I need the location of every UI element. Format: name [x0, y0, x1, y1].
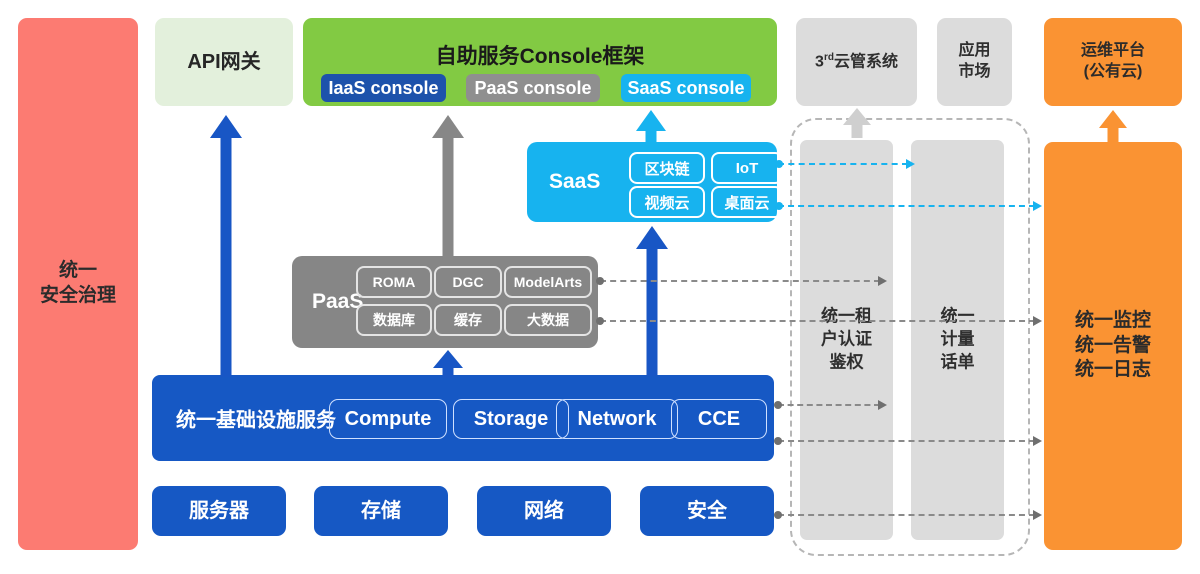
tag-roma-label: ROMA [373, 274, 416, 290]
tag-bigdata-label: 大数据 [527, 310, 569, 330]
box-security-label: 安全 [687, 498, 727, 524]
panel-unified-monitoring-label: 统一监控 统一告警 统一日志 [1075, 309, 1151, 383]
box-server[interactable]: 服务器 [152, 486, 286, 536]
dot-paas-auth [596, 277, 604, 285]
arrow-infra-to-api-gateway [210, 115, 242, 377]
box-3rd-cloud-mgmt-system[interactable]: 3rd云管系统 [796, 18, 917, 106]
arrow-shared-to-3rd-cloud [842, 108, 872, 138]
pill-paas-console[interactable]: PaaS console [466, 74, 600, 102]
tag-iot[interactable]: IoT [711, 152, 783, 184]
pill-saas-console-label: SaaS console [627, 78, 744, 99]
arrowhead-hardware-ops [1033, 510, 1042, 520]
pill-saas-console[interactable]: SaaS console [621, 74, 751, 102]
dot-infra-auth [774, 401, 782, 409]
box-api-gateway[interactable]: API网关 [155, 18, 293, 106]
tag-modelarts[interactable]: ModelArts [504, 266, 592, 298]
box-network-label: 网络 [524, 498, 564, 524]
layer-unified-infrastructure: 统一基础设施服务 Compute Storage Network CCE [152, 375, 774, 461]
tag-storage[interactable]: Storage [453, 399, 569, 439]
arrowhead-saas-auth [906, 159, 915, 169]
column-unified-tenant-auth-label: 统一租 户认证 鉴权 [800, 306, 893, 375]
arrowhead-saas-ops [1033, 201, 1042, 211]
dot-hardware-ops [774, 511, 782, 519]
tag-blockchain[interactable]: 区块链 [629, 152, 705, 184]
dashed-infra-to-auth-column [778, 404, 880, 406]
tag-dgc-label: DGC [452, 274, 483, 290]
pill-iaas-console-label: IaaS console [328, 78, 438, 99]
dashed-saas-to-ops-panel [778, 205, 1035, 207]
dashed-paas-to-ops-panel [600, 320, 1035, 322]
arrow-infra-to-saas [636, 226, 668, 376]
tag-iot-label: IoT [736, 160, 759, 177]
box-ops-platform-label: 运维平台 (公有云) [1081, 41, 1145, 83]
box-3rd-cloud-mgmt-system-label: 3rd云管系统 [815, 51, 898, 73]
tag-roma[interactable]: ROMA [356, 266, 432, 298]
arrowhead-infra-ops [1033, 436, 1042, 446]
tag-cce[interactable]: CCE [671, 399, 767, 439]
tag-dgc[interactable]: DGC [434, 266, 502, 298]
layer-saas-label: SaaS [549, 170, 600, 194]
arrowhead-paas-ops [1033, 316, 1042, 326]
dashed-infra-to-ops-panel [778, 440, 1035, 442]
box-server-label: 服务器 [189, 498, 249, 524]
dashed-hardware-to-ops-panel [778, 514, 1035, 516]
layer-paas: PaaS ROMA DGC ModelArts 数据库 缓存 大数据 [292, 256, 598, 348]
panel-unified-security: 统一 安全治理 [18, 18, 138, 550]
box-ops-platform-public-cloud[interactable]: 运维平台 (公有云) [1044, 18, 1182, 106]
panel-unified-security-label: 统一 安全治理 [40, 259, 116, 308]
dot-saas-auth [775, 160, 783, 168]
box-app-market[interactable]: 应用 市场 [937, 18, 1012, 106]
arrow-infra-to-paas [432, 350, 464, 378]
tag-video-cloud[interactable]: 视频云 [629, 186, 705, 218]
arrowhead-paas-auth [878, 276, 887, 286]
tag-database-label: 数据库 [373, 310, 415, 330]
panel-unified-monitoring: 统一监控 统一告警 统一日志 [1044, 142, 1182, 550]
architecture-diagram: 统一 安全治理 API网关 自助服务Console框架 IaaS console… [0, 0, 1200, 574]
column-unified-metering-billing: 统一 计量 话单 [911, 140, 1004, 540]
dot-paas-ops [596, 317, 604, 325]
arrow-ops-panel-to-ops-top [1098, 110, 1128, 142]
console-framework-title: 自助服务Console框架 [303, 40, 777, 70]
tag-cache[interactable]: 缓存 [434, 304, 502, 336]
pill-iaas-console[interactable]: IaaS console [321, 74, 446, 102]
column-unified-metering-billing-label: 统一 计量 话单 [911, 306, 1004, 375]
layer-saas: SaaS 区块链 IoT 视频云 桌面云 [527, 142, 777, 222]
tag-database[interactable]: 数据库 [356, 304, 432, 336]
arrow-saas-to-console [636, 110, 666, 146]
box-network[interactable]: 网络 [477, 486, 611, 536]
arrowhead-infra-auth [878, 400, 887, 410]
dot-infra-ops [774, 437, 782, 445]
box-api-gateway-label: API网关 [187, 49, 260, 75]
dot-saas-ops [775, 202, 783, 210]
tag-desktop-cloud-label: 桌面云 [724, 192, 769, 213]
box-storage[interactable]: 存储 [314, 486, 448, 536]
tag-cce-label: CCE [698, 408, 740, 431]
dashed-saas-to-auth-column [778, 163, 908, 165]
tag-bigdata[interactable]: 大数据 [504, 304, 592, 336]
tag-video-cloud-label: 视频云 [644, 192, 689, 213]
tag-blockchain-label: 区块链 [644, 158, 689, 179]
tag-network[interactable]: Network [556, 399, 678, 439]
arrow-paas-to-console [432, 115, 464, 260]
column-unified-tenant-auth: 统一租 户认证 鉴权 [800, 140, 893, 540]
tag-compute[interactable]: Compute [329, 399, 447, 439]
tag-modelarts-label: ModelArts [514, 274, 582, 290]
box-security[interactable]: 安全 [640, 486, 774, 536]
tag-network-label: Network [578, 408, 657, 431]
tag-desktop-cloud[interactable]: 桌面云 [711, 186, 783, 218]
layer-unified-infrastructure-label: 统一基础设施服务 [176, 404, 336, 433]
dashed-paas-to-auth-column [600, 280, 880, 282]
tag-compute-label: Compute [345, 408, 432, 431]
box-app-market-label: 应用 市场 [958, 41, 990, 83]
tag-cache-label: 缓存 [454, 310, 482, 330]
pill-paas-console-label: PaaS console [474, 78, 591, 99]
box-storage-label: 存储 [361, 498, 401, 524]
tag-storage-label: Storage [474, 408, 548, 431]
panel-self-service-console-framework: 自助服务Console框架 IaaS console PaaS console … [303, 18, 777, 106]
